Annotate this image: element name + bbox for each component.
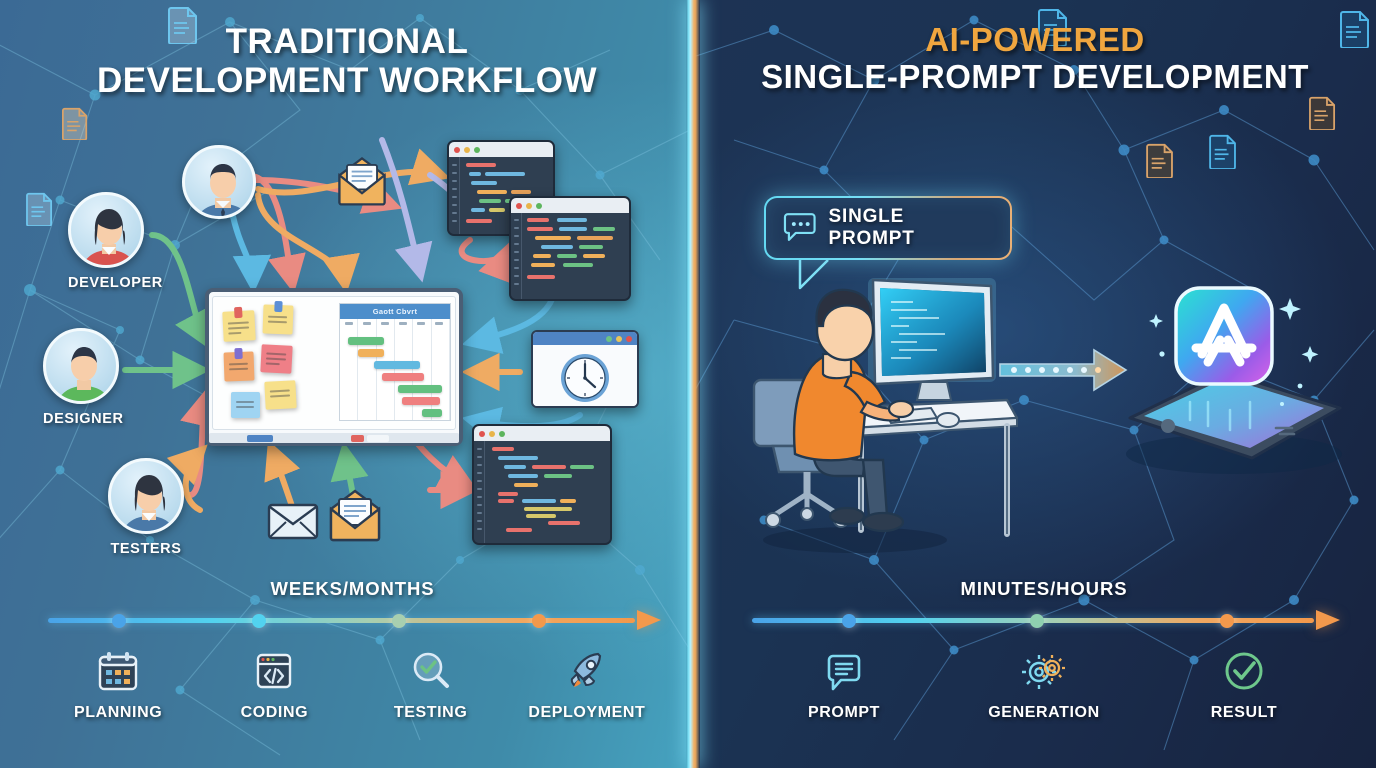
timeline-step-coding[interactable]: CODING [196, 644, 352, 722]
single-prompt-label: SINGLE PROMPT [829, 206, 994, 250]
timeline-steps-right: PROMPT [744, 644, 1344, 722]
whiteboard: Gaott Cbvrt [205, 288, 463, 446]
code-window-icon [196, 644, 352, 698]
line-number-gutter [449, 157, 460, 234]
avatar-label-developer: DEVELOPER [68, 275, 163, 291]
avatar-label-designer: DESIGNER [43, 411, 124, 427]
rocket-icon [509, 644, 665, 698]
avatar-designer: DESIGNER [43, 328, 124, 427]
timeline-caption-left: WEEKS/MONTHS [40, 578, 665, 600]
maximize-dot-icon[interactable] [616, 336, 622, 342]
maximize-dot-icon[interactable] [499, 431, 505, 437]
check-circle-icon [1144, 644, 1344, 698]
envelope-closed-icon [267, 502, 319, 540]
magnifier-check-icon [353, 644, 509, 698]
left-title-line1: TRADITIONAL [0, 22, 694, 61]
clock-icon [558, 351, 612, 405]
gears-icon [944, 644, 1144, 698]
timeline-dot [1220, 614, 1234, 628]
avatar [108, 458, 184, 534]
gantt-chart: Gaott Cbvrt [339, 303, 451, 421]
timeline-dot [392, 614, 406, 628]
envelope-open-icon [322, 485, 388, 543]
timeline-caption-right: MINUTES/HOURS [744, 578, 1344, 600]
timeline-arrowhead-icon [1316, 610, 1340, 630]
traditional-workflow-panel: TRADITIONAL DEVELOPMENT WORKFLOW [0, 0, 694, 768]
document-icon [1209, 134, 1237, 169]
timeline-step-planning[interactable]: PLANNING [40, 644, 196, 722]
sticky-note [260, 344, 292, 374]
gantt-bar [374, 361, 420, 369]
tablet-app-result-illustration [1104, 276, 1366, 482]
document-icon [62, 107, 88, 140]
minimize-dot-icon[interactable] [464, 147, 470, 153]
timeline-track-left [40, 612, 665, 630]
sticky-note [264, 380, 296, 410]
document-icon [1220, 142, 1221, 143]
timeline-label-result: RESULT [1144, 704, 1344, 722]
marker-white [367, 435, 389, 442]
sticky-note [263, 304, 294, 334]
avatar [182, 145, 256, 219]
timeline-steps-left: PLANNING CODING [40, 644, 665, 722]
gantt-bar [422, 409, 442, 417]
timeline-ai: MINUTES/HOURS PROMPT [744, 578, 1344, 722]
gantt-bar [398, 385, 442, 393]
right-panel-title: AI-POWERED SINGLE-PROMPT DEVELOPMENT [694, 22, 1376, 96]
clock-browser-window [531, 330, 639, 408]
line-number-gutter [474, 441, 485, 543]
avatar-developer: DEVELOPER [68, 192, 163, 291]
timeline-dot [252, 614, 266, 628]
left-title-line2: DEVELOPMENT WORKFLOW [0, 61, 694, 100]
envelope-open-icon [331, 152, 393, 208]
calendar-icon [40, 644, 196, 698]
marker-red [351, 435, 364, 442]
gantt-chart-title: Gaott Cbvrt [340, 304, 450, 319]
timeline-traditional: WEEKS/MONTHS [40, 578, 665, 722]
code-editor-window [472, 424, 612, 545]
timeline-step-prompt[interactable]: PROMPT [744, 644, 944, 722]
bubble-tail-icon [798, 258, 838, 292]
timeline-label-generation: GENERATION [944, 704, 1144, 722]
code-area [511, 213, 629, 299]
document-icon [1146, 143, 1174, 178]
timeline-step-generation[interactable]: GENERATION [944, 644, 1144, 722]
timeline-arrowhead-icon [637, 610, 661, 630]
gantt-bar [402, 397, 440, 405]
timeline-dot [112, 614, 126, 628]
close-dot-icon[interactable] [516, 203, 522, 209]
avatar-manager [182, 145, 256, 219]
avatar-label-testers: TESTERS [108, 541, 184, 557]
panel-divider [686, 0, 700, 768]
infographic-canvas: TRADITIONAL DEVELOPMENT WORKFLOW [0, 0, 1376, 768]
maximize-dot-icon[interactable] [536, 203, 542, 209]
minimize-dot-icon[interactable] [489, 431, 495, 437]
timeline-step-deployment[interactable]: DEPLOYMENT [509, 644, 665, 722]
minimize-dot-icon[interactable] [526, 203, 532, 209]
avatar [43, 328, 119, 404]
gantt-bar [358, 349, 384, 357]
window-titlebar [474, 426, 610, 441]
gantt-bar [348, 337, 384, 345]
timeline-track-right [744, 612, 1344, 630]
timeline-dot [1030, 614, 1044, 628]
close-dot-icon[interactable] [454, 147, 460, 153]
developer-at-desk-illustration [735, 268, 1035, 560]
window-titlebar [511, 198, 629, 213]
chat-bubble-icon [744, 644, 944, 698]
timeline-label-coding: CODING [196, 704, 352, 722]
avatar [68, 192, 144, 268]
chat-bubble-icon [782, 213, 818, 243]
gantt-bar [382, 373, 424, 381]
maximize-dot-icon[interactable] [474, 147, 480, 153]
timeline-step-testing[interactable]: TESTING [353, 644, 509, 722]
close-dot-icon[interactable] [479, 431, 485, 437]
window-titlebar [449, 142, 553, 157]
timeline-step-result[interactable]: RESULT [1144, 644, 1344, 722]
timeline-dot [842, 614, 856, 628]
timeline-label-planning: PLANNING [40, 704, 196, 722]
timeline-label-testing: TESTING [353, 704, 509, 722]
avatar-testers: TESTERS [108, 458, 184, 557]
sticky-note [222, 310, 256, 342]
left-panel-title: TRADITIONAL DEVELOPMENT WORKFLOW [0, 22, 694, 100]
line-number-gutter [511, 213, 522, 299]
timeline-dot [532, 614, 546, 628]
window-titlebar [533, 332, 637, 345]
marker-blue [247, 435, 273, 442]
sticky-note [231, 392, 260, 418]
single-prompt-badge[interactable]: SINGLE PROMPT [764, 196, 1012, 260]
timeline-label-deployment: DEPLOYMENT [509, 704, 665, 722]
code-editor-window [509, 196, 631, 301]
right-title-line2: SINGLE-PROMPT DEVELOPMENT [694, 59, 1376, 96]
clock-face [533, 345, 637, 408]
document-icon [26, 192, 53, 226]
close-dot-icon[interactable] [626, 336, 632, 342]
timeline-label-prompt: PROMPT [744, 704, 944, 722]
document-icon [1309, 96, 1336, 130]
minimize-dot-icon[interactable] [606, 336, 612, 342]
sticky-note [224, 351, 255, 381]
timeline-line [48, 618, 635, 623]
whiteboard-surface: Gaott Cbvrt [212, 296, 456, 430]
right-title-line1: AI-POWERED [694, 22, 1376, 59]
code-area [474, 441, 610, 543]
